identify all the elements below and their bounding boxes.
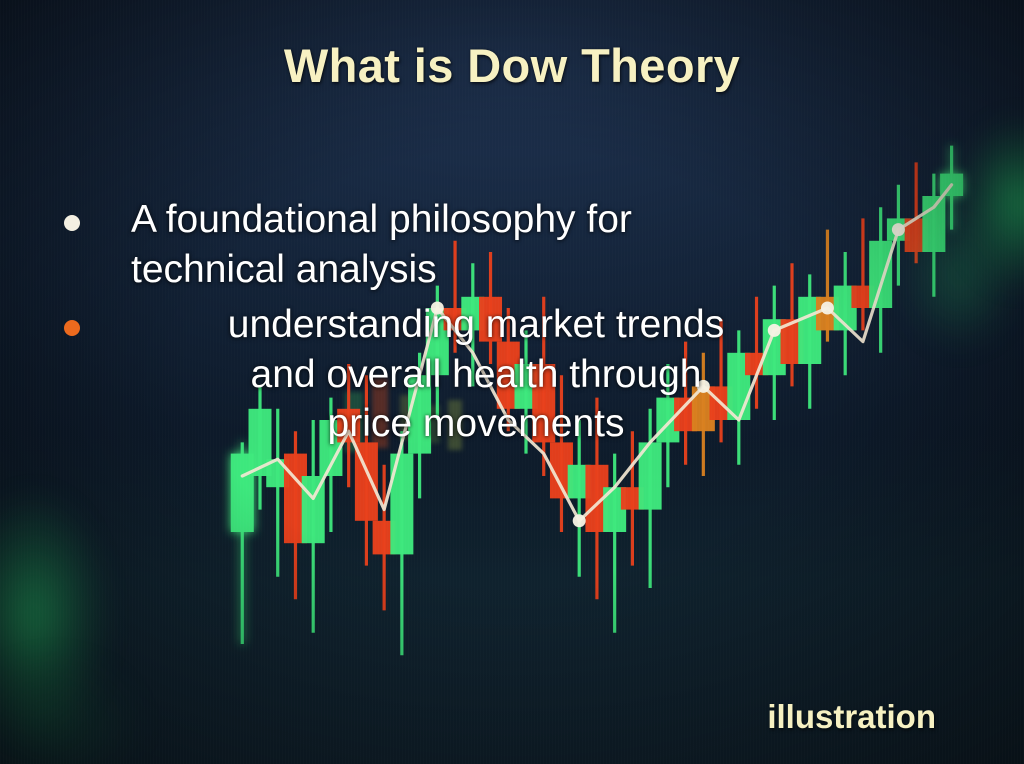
slide-title: What is Dow Theory [0,38,1024,93]
list-item: understanding market trends and overall … [46,300,836,449]
orange-bullet-dot-icon [64,320,80,336]
slide-canvas: What is Dow Theory A foundational philos… [0,0,1024,764]
illustration-caption: illustration [767,698,936,736]
bullet-list: A foundational philosophy for technical … [46,195,836,449]
list-item: A foundational philosophy for technical … [46,195,836,294]
bullet-text: A foundational philosophy for technical … [46,195,836,294]
bullet-text: understanding market trends and overall … [46,300,836,449]
white-bullet-dot-icon [64,215,80,231]
